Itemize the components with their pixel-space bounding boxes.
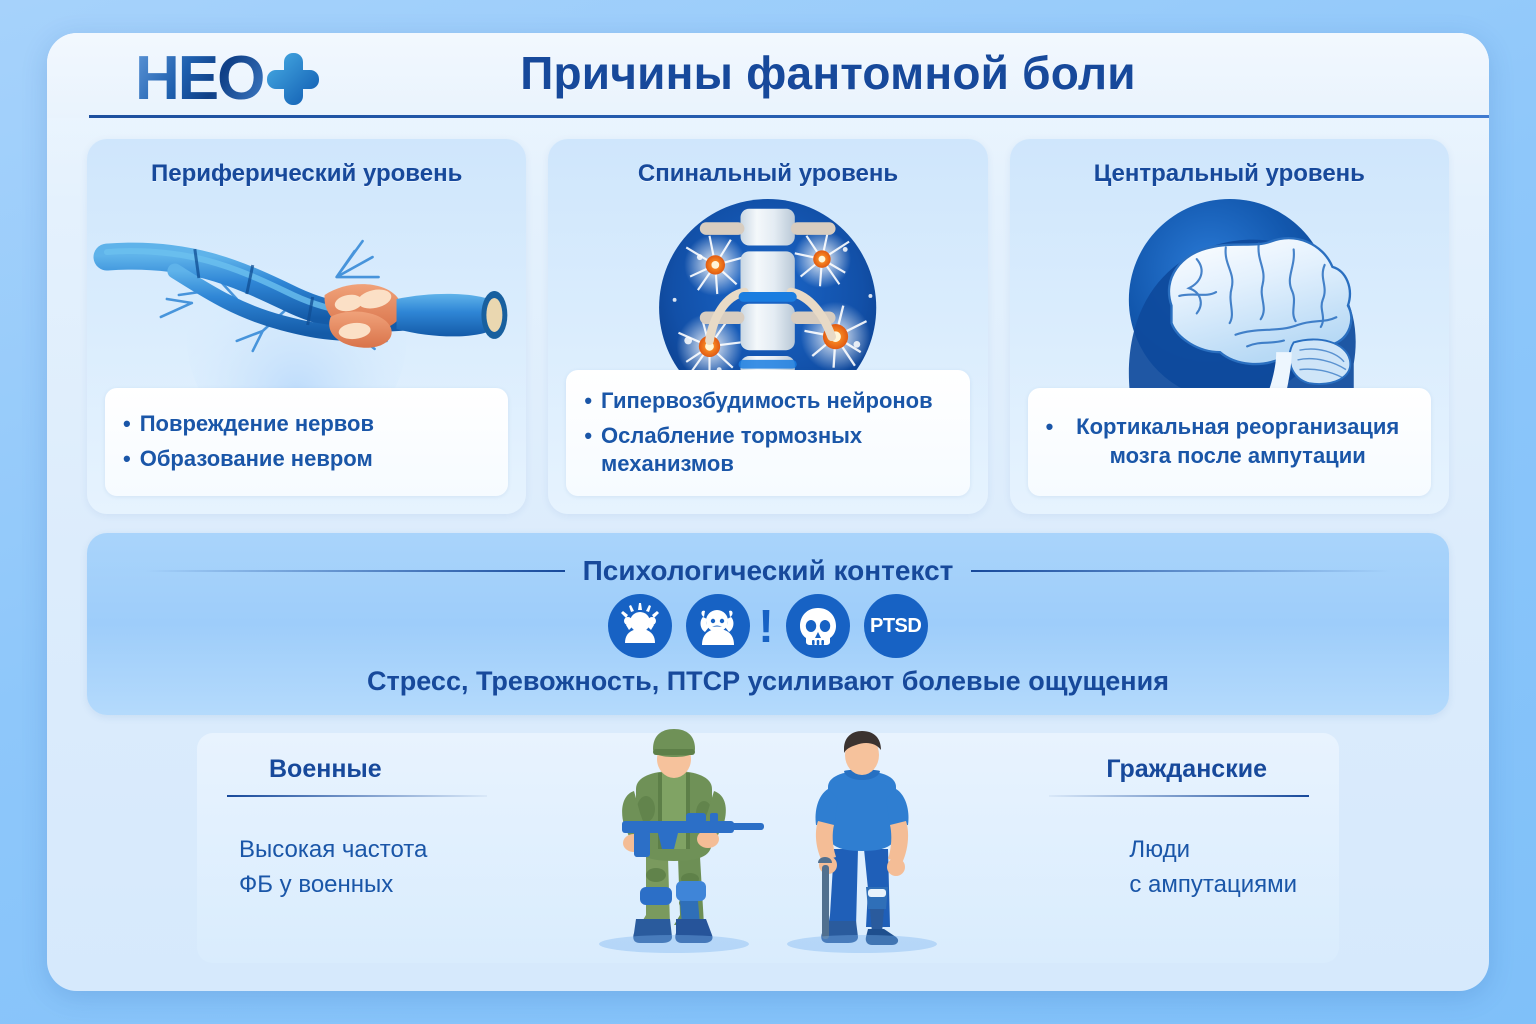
groups-row: Военные Высокая частота ФБ у военных [197,733,1339,963]
divider [227,795,487,797]
damaged-nerve-icon [87,199,526,389]
level-title: Периферический уровень [87,160,526,188]
ptsd-badge-icon: PTSD [864,594,928,658]
divider-left [145,570,565,572]
psych-icon-row: ! PTSD [87,594,1449,658]
divider-right [971,570,1391,572]
anxious-person-icon [686,594,750,658]
spine-neurons-icon [548,199,987,389]
group-heading: Военные [269,755,382,784]
list-item: • Образование невром [123,445,490,474]
skull-icon [786,594,850,658]
stressed-person-icon [608,594,672,658]
soldier-with-prosthetic-icon [574,729,774,959]
poster-header: HEO Причины фантомной боли [47,33,1489,118]
level-title: Центральный уровень [1010,160,1449,188]
group-text: Высокая частота ФБ у военных [239,833,427,903]
bullet-icon: • [123,445,131,473]
psychological-context-panel: Психологический контекст [87,533,1449,715]
level-card-peripheral: Периферический уровень [87,139,526,514]
level-bullets: • Повреждение нервов • Образование невро… [105,388,508,496]
psych-subtitle: Стресс, Тревожность, ПТСР усиливают боле… [87,666,1449,697]
divider [1049,795,1309,797]
list-item: • Кортикальная реорганизация мозга после… [1046,413,1413,470]
exclamation-mark-icon: ! [758,603,773,649]
group-text: Люди с ампутациями [1129,833,1297,903]
bullet-icon: • [1046,413,1054,441]
level-card-central: Центральный уровень [1010,139,1449,514]
level-bullets: • Кортикальная реорганизация мозга после… [1028,388,1431,496]
list-item: • Повреждение нервов [123,410,490,439]
figure-shadow [787,935,937,953]
bullet-icon: • [584,422,592,450]
list-item: • Ослабление тормозных механизмов [584,422,951,479]
group-panel-civilian: Гражданские Люди с ампутациями [768,733,1339,963]
page-title: Причины фантомной боли [47,46,1489,100]
bullet-icon: • [584,387,592,415]
bullet-icon: • [123,410,131,438]
level-bullets: • Гипервозбудимость нейронов • Ослаблени… [566,370,969,496]
list-item: • Гипервозбудимость нейронов [584,387,951,416]
psych-title: Психологический контекст [583,555,954,587]
psych-heading-row: Психологический контекст [87,533,1449,587]
figure-shadow [599,935,749,953]
level-card-spinal: Спинальный уровень [548,139,987,514]
group-panel-military: Военные Высокая частота ФБ у военных [197,733,768,963]
levels-row: Периферический уровень [87,139,1449,514]
infographic-poster: HEO Причины фантомной боли Периферически… [47,33,1489,991]
level-title: Спинальный уровень [548,160,987,188]
group-heading: Гражданские [1106,755,1267,784]
brain-head-icon [1010,199,1449,389]
civilian-with-prosthetic-icon [762,729,962,959]
